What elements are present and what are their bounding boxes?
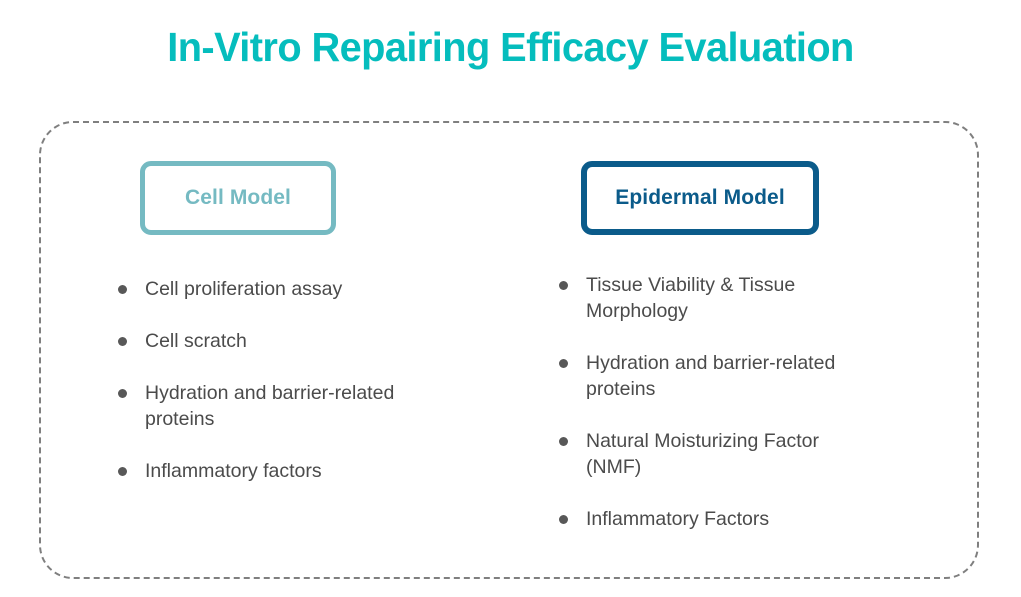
cell-model-list: Cell proliferation assay Cell scratch Hy… [118, 277, 418, 485]
list-item: Hydration and barrier-related proteins [559, 351, 879, 403]
list-item-label: Tissue Viability & Tissue Morphology [586, 273, 879, 325]
list-item: Inflammatory Factors [559, 507, 879, 533]
list-item-label: Hydration and barrier-related proteins [145, 381, 418, 433]
epidermal-model-label: Epidermal Model [615, 186, 785, 210]
list-item-label: Cell scratch [145, 329, 247, 355]
list-item: Tissue Viability & Tissue Morphology [559, 273, 879, 325]
bullet-icon [559, 515, 568, 524]
bullet-icon [559, 437, 568, 446]
list-item: Cell scratch [118, 329, 418, 355]
list-item-label: Inflammatory Factors [586, 507, 769, 533]
list-item: Hydration and barrier-related proteins [118, 381, 418, 433]
bullet-icon [118, 337, 127, 346]
bullet-icon [118, 285, 127, 294]
list-item: Natural Moisturizing Factor (NMF) [559, 429, 879, 481]
list-item: Cell proliferation assay [118, 277, 418, 303]
list-item-label: Inflammatory factors [145, 459, 322, 485]
list-item-label: Cell proliferation assay [145, 277, 342, 303]
bullet-icon [559, 359, 568, 368]
cell-model-header-box[interactable]: Cell Model [140, 161, 336, 235]
list-item-label: Natural Moisturizing Factor (NMF) [586, 429, 879, 481]
model-columns: Cell Model Cell proliferation assay Cell… [41, 123, 981, 581]
page-title: In-Vitro Repairing Efficacy Evaluation [15, 24, 1005, 71]
cell-model-label: Cell Model [185, 186, 291, 210]
bullet-icon [118, 389, 127, 398]
list-item: Inflammatory factors [118, 459, 418, 485]
column-epidermal-model: Epidermal Model Tissue Viability & Tissu… [581, 161, 921, 558]
epidermal-model-header-box[interactable]: Epidermal Model [581, 161, 819, 235]
list-item-label: Hydration and barrier-related proteins [586, 351, 879, 403]
content-panel: Cell Model Cell proliferation assay Cell… [39, 121, 979, 579]
column-cell-model: Cell Model Cell proliferation assay Cell… [140, 161, 460, 511]
epidermal-model-list: Tissue Viability & Tissue Morphology Hyd… [559, 273, 879, 532]
bullet-icon [559, 281, 568, 290]
bullet-icon [118, 467, 127, 476]
